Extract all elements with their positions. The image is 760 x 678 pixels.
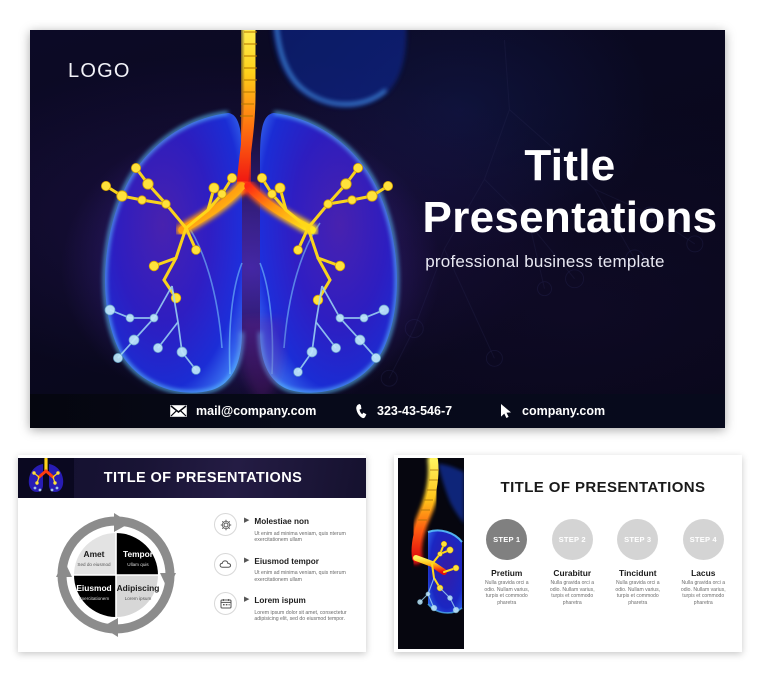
subtitle: professional business template (370, 252, 720, 272)
contact-email-text: mail@company.com (196, 404, 316, 418)
bullet-arrow-icon: ▶ (244, 516, 249, 524)
contact-email[interactable]: mail@company.com (170, 404, 316, 418)
step-name: Tincidunt (605, 568, 671, 578)
slide-left-header: TITLE OF PRESENTATIONS (18, 458, 366, 498)
calendar-icon (214, 592, 237, 615)
step-item[interactable]: STEP 4 Lacus Nulla gravida orci a odio. … (671, 519, 737, 606)
page-title: Title Presentations (420, 140, 720, 244)
gear-icon (214, 513, 237, 536)
step-name: Pretium (474, 568, 540, 578)
step-body: Nulla gravida orci a odio. Nullam varius… (540, 580, 606, 606)
quadrant-label-0: Amet (84, 549, 105, 559)
step-name: Curabitur (540, 568, 606, 578)
list-item-body: Ut enim ad minima veniam, quis nterum ex… (254, 531, 362, 544)
step-name: Lacus (671, 568, 737, 578)
cursor-arrow-icon (500, 403, 513, 419)
contact-website-text: company.com (522, 404, 605, 418)
contact-website[interactable]: company.com (500, 403, 605, 419)
list-item-text: Molestiae non Ut enim ad minima veniam, … (254, 511, 362, 544)
feature-list: ▶ Molestiae non Ut enim ad minima veniam… (214, 511, 362, 630)
list-item[interactable]: ▶ Molestiae non Ut enim ad minima veniam… (214, 511, 362, 544)
quadrant-label-3: Eiusmod (76, 583, 111, 593)
title-line-2: Presentations (420, 192, 720, 244)
list-item-body: Ut enim ad minima veniam, quis nterum ex… (254, 570, 362, 583)
step-badge: STEP 4 (683, 519, 724, 560)
cycle-diagram: Amet Sed do eiusmod Tempor Ullam quis Ad… (36, 511, 196, 639)
steps-row: STEP 1 Pretium Nulla gravida orci a odio… (474, 519, 736, 606)
cloud-icon (214, 553, 237, 576)
step-badge: STEP 1 (486, 519, 527, 560)
list-item-heading: Eiusmod tempor (254, 557, 319, 566)
bullet-arrow-icon: ▶ (244, 556, 249, 564)
slide-left-title: TITLE OF PRESENTATIONS (74, 470, 366, 486)
bullet-arrow-icon: ▶ (244, 595, 249, 603)
list-item-body: Lorem ipsum dolor sit amet, consectetur … (254, 610, 362, 623)
step-body: Nulla gravida orci a odio. Nullam varius… (671, 580, 737, 606)
quadrant-sub-2: Lorem ipsum (125, 596, 152, 601)
lungs-thumbnail-icon (18, 458, 74, 498)
hero-slide[interactable]: LOGO Title Presentations professional bu… (30, 30, 725, 428)
quadrant-label-2: Adipiscing (117, 583, 160, 593)
logo: LOGO (68, 60, 131, 83)
quadrant-label-1: Tempor (123, 549, 154, 559)
list-item-text: Lorem ispum Lorem ipsum dolor sit amet, … (254, 590, 362, 623)
quadrant-sub-3: Exercitationem (79, 596, 110, 601)
quadrant-sub-1: Ullam quis (127, 562, 149, 567)
slide-thumbnail-right[interactable]: TITLE OF PRESENTATIONS STEP 1 Pretium Nu… (394, 455, 742, 652)
contact-phone-text: 323-43-546-7 (377, 404, 452, 418)
lungs-strip-image (398, 458, 464, 649)
step-item[interactable]: STEP 2 Curabitur Nulla gravida orci a od… (540, 519, 606, 606)
phone-icon (355, 403, 368, 419)
lungs-illustration (36, 30, 466, 428)
title-line-1: Title (420, 140, 720, 192)
step-badge: STEP 3 (617, 519, 658, 560)
list-item-heading: Lorem ispum (254, 596, 305, 605)
envelope-icon (170, 405, 187, 417)
contact-bar: mail@company.com 323-43-546-7 company.co… (30, 394, 725, 428)
step-badge: STEP 2 (552, 519, 593, 560)
list-item[interactable]: ▶ Eiusmod tempor Ut enim ad minima venia… (214, 551, 362, 584)
list-item[interactable]: ▶ Lorem ispum Lorem ipsum dolor sit amet… (214, 590, 362, 623)
step-body: Nulla gravida orci a odio. Nullam varius… (605, 580, 671, 606)
step-item[interactable]: STEP 3 Tincidunt Nulla gravida orci a od… (605, 519, 671, 606)
step-body: Nulla gravida orci a odio. Nullam varius… (474, 580, 540, 606)
list-item-heading: Molestiae non (254, 517, 309, 526)
slide-right-title: TITLE OF PRESENTATIONS (470, 479, 736, 496)
list-item-text: Eiusmod tempor Ut enim ad minima veniam,… (254, 551, 362, 584)
slide-thumbnail-left[interactable]: TITLE OF PRESENTATIONS Amet Sed do eiusm… (18, 455, 366, 652)
quadrant-sub-0: Sed do eiusmod (77, 562, 111, 567)
contact-phone[interactable]: 323-43-546-7 (355, 403, 452, 419)
step-item[interactable]: STEP 1 Pretium Nulla gravida orci a odio… (474, 519, 540, 606)
